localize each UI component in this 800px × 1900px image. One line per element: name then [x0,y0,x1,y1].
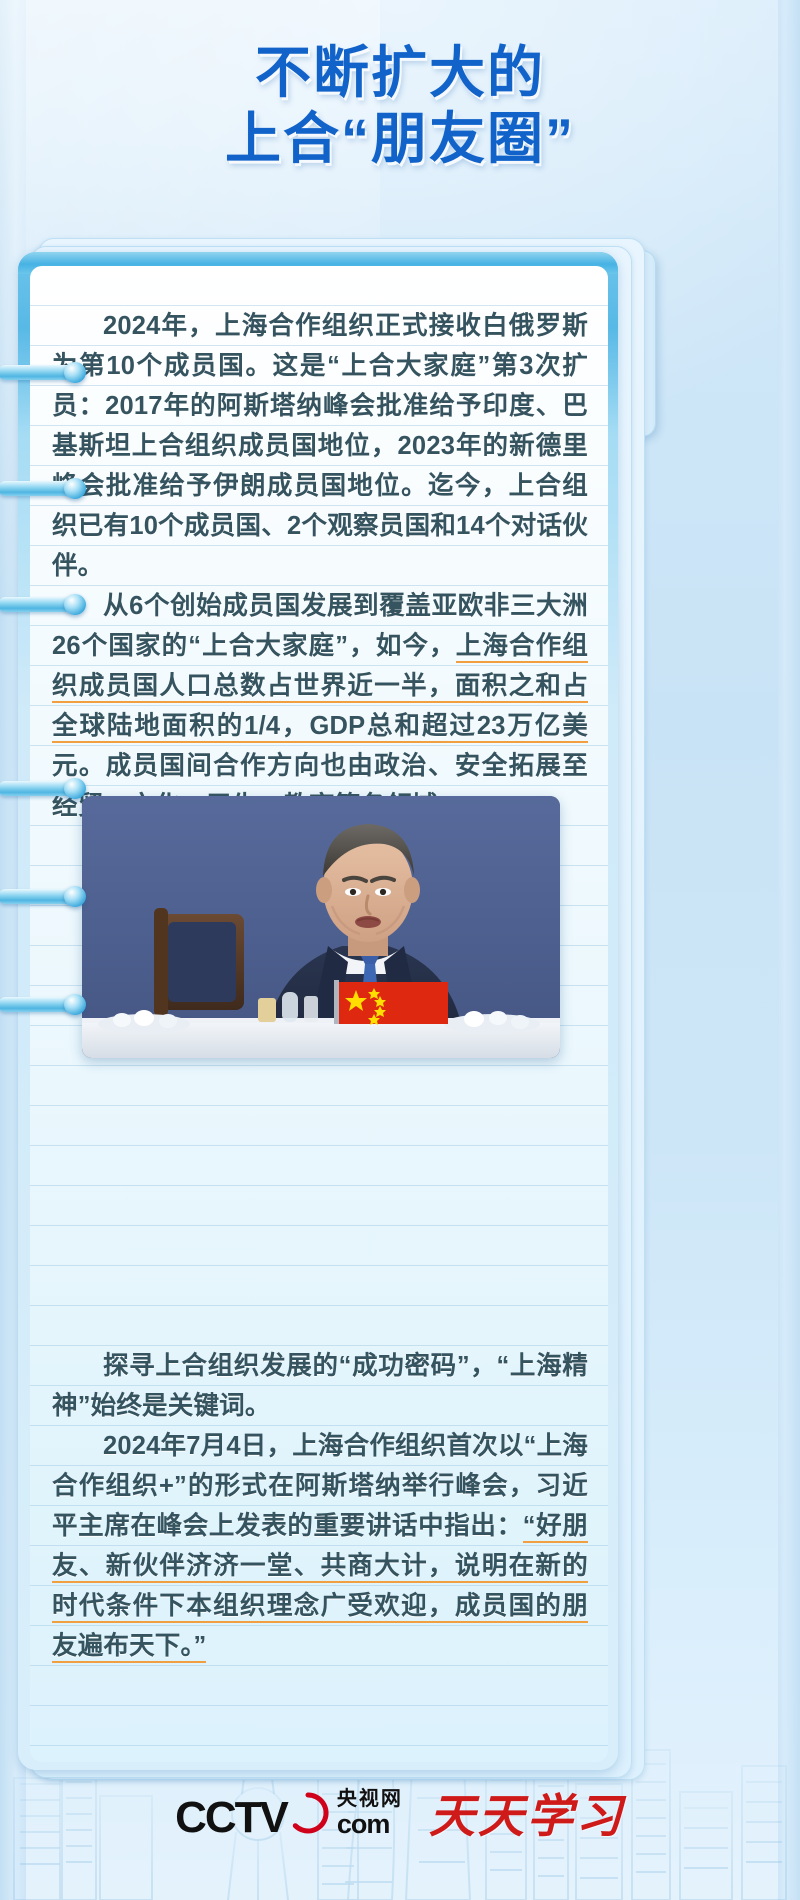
spiral-ring-4 [0,778,90,799]
spiral-ring-5 [0,886,90,907]
spiral-ring-1 [0,362,90,383]
footer-logos: CCTV 央视网 com 天天学习 [0,1778,800,1848]
title-line-1: 不断扩大的 [0,40,800,106]
spiral-ring-knob [64,362,86,383]
paragraph-4: 2024年7月4日，上海合作组织首次以“上海合作组织+”的形式在阿斯塔纳举行峰会… [52,1426,588,1666]
page-title: 不断扩大的 上合“朋友圈” [0,40,800,172]
cctv-domain-label: com [337,1811,403,1838]
spiral-ring-knob [64,478,86,499]
title-line-2: 上合“朋友圈” [0,106,800,172]
article-body-top: 2024年，上海合作组织正式接收白俄罗斯为第10个成员国。这是“上合大家庭”第3… [52,306,588,826]
spiral-ring-knob [64,778,86,799]
cctv-chinese-label: 央视网 [337,1789,403,1809]
tiantian-xuexi-brand: 天天学习 [429,1780,625,1846]
spiral-ring-6 [0,994,90,1015]
cctv-chinese-block: 央视网 com [337,1789,403,1838]
paragraph-1: 2024年，上海合作组织正式接收白俄罗斯为第10个成员国。这是“上合大家庭”第3… [52,306,588,586]
spiral-ring-knob [64,594,86,615]
cctv-logo: CCTV 央视网 com [175,1789,403,1838]
spiral-ring-knob [64,994,86,1015]
cctv-wordmark: CCTV [175,1798,287,1838]
article-body-bottom: 探寻上合组织发展的“成功密码”，“上海精神”始终是关键词。 2024年7月4日，… [52,1346,588,1666]
cctv-ring-icon [285,1790,331,1836]
china-flag [334,980,448,1025]
chair [154,908,244,1016]
paragraph-4-plain-start: 2024年7月4日，上海合作组织首次以“上海合作组织+”的形式在阿斯塔纳举行峰会… [52,1432,588,1540]
spiral-ring-knob [64,886,86,907]
paragraph-3: 探寻上合组织发展的“成功密码”，“上海精神”始终是关键词。 [52,1346,588,1426]
paragraph-2: 从6个创始成员国发展到覆盖亚欧非三大洲26个国家的“上合大家庭”，如今，上海合作… [52,586,588,826]
spiral-ring-2 [0,478,90,499]
xi-jinping-at-summit-photo [82,796,560,1058]
spiral-ring-3 [0,594,90,615]
